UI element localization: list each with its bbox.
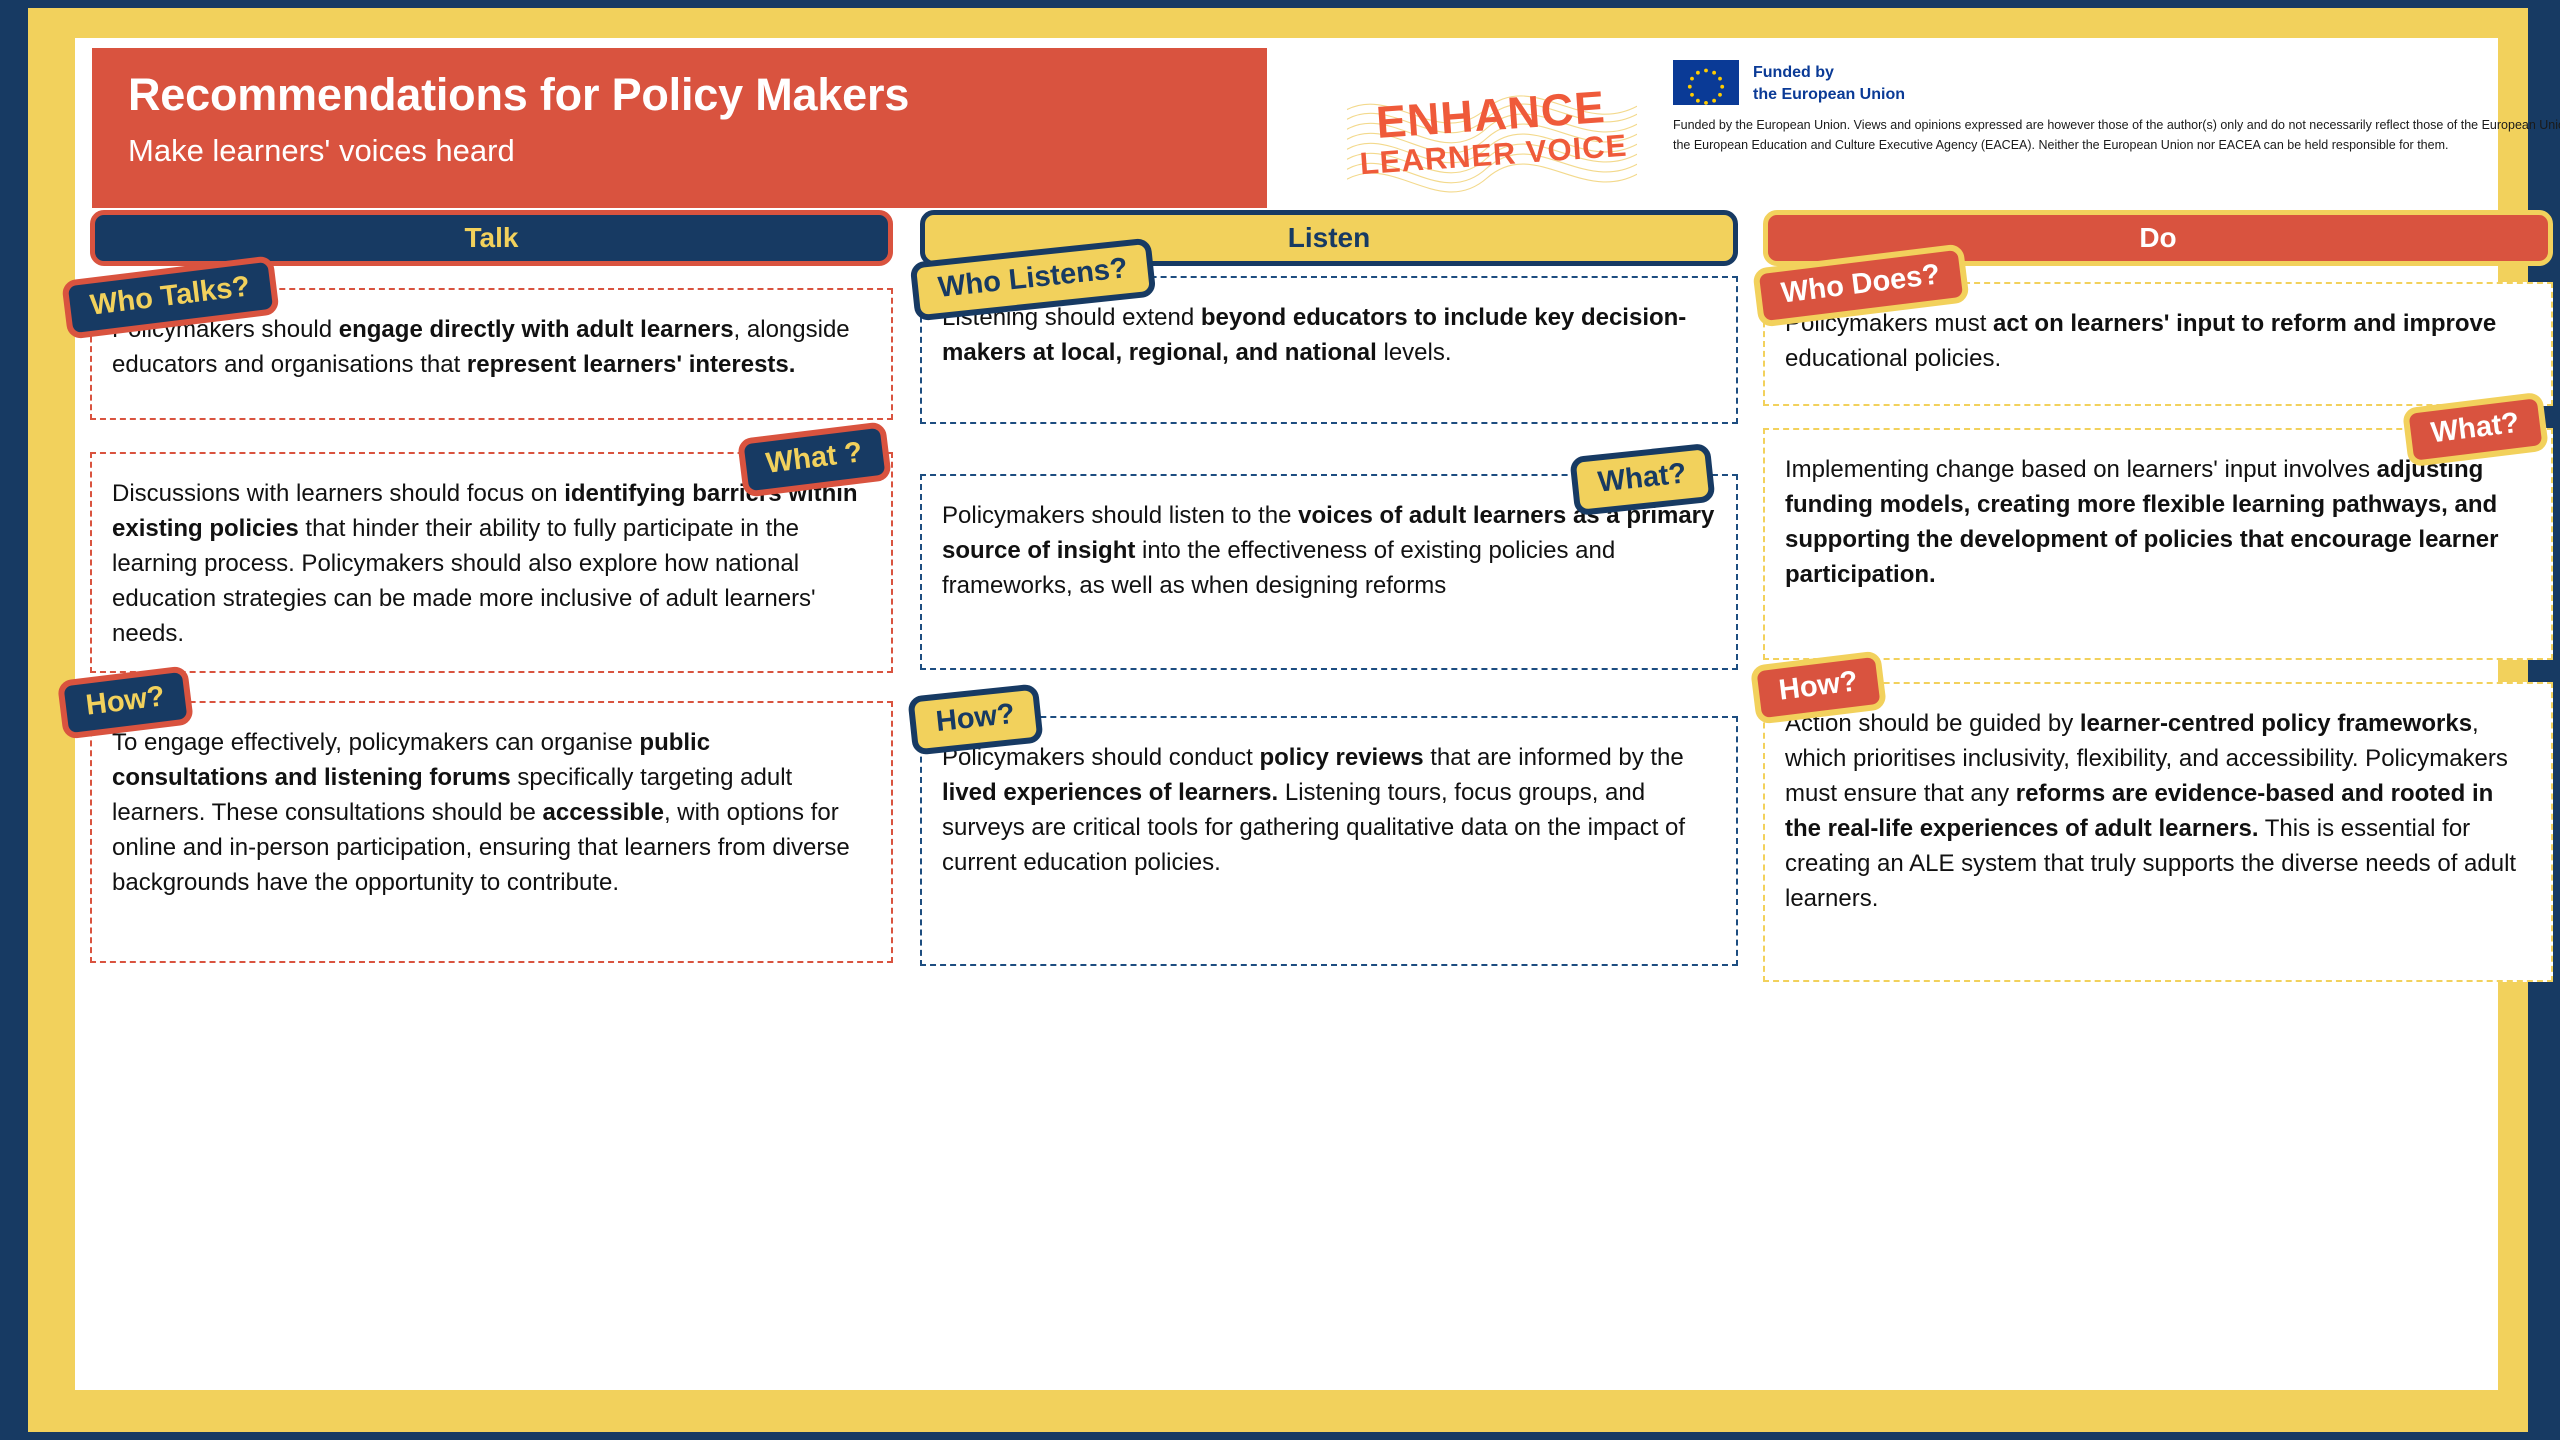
eu-funding-block: Funded by the European Union Funded by t… — [1673, 60, 2493, 156]
poster-sheet: Recommendations for Policy Makers Make l… — [75, 38, 2498, 1390]
column-headers: Talk Listen Do — [75, 210, 2498, 270]
column-listen: Who Listens? Listening should extend bey… — [920, 270, 1738, 966]
card-text-listen-how: Policymakers should conduct policy revie… — [922, 718, 1736, 900]
eu-funded-line1: Funded by — [1753, 62, 1905, 84]
title-block: Recommendations for Policy Makers Make l… — [92, 48, 1267, 208]
card-do-what: What? Implementing change based on learn… — [1763, 428, 2553, 660]
page-title: Recommendations for Policy Makers — [128, 70, 1267, 120]
eu-disclaimer-text: Funded by the European Union. Views and … — [1673, 115, 2560, 156]
card-listen-how: How? Policymakers should conduct policy … — [920, 716, 1738, 966]
card-talk-who: Who Talks? Policymakers should engage di… — [90, 288, 893, 420]
column-header-talk[interactable]: Talk — [90, 210, 893, 266]
eu-funded-line2: the European Union — [1753, 84, 1905, 106]
card-text-talk-how: To engage effectively, policymakers can … — [92, 703, 891, 920]
poster-header: Recommendations for Policy Makers Make l… — [75, 38, 2498, 210]
card-listen-what: What? Policymakers should listen to the … — [920, 474, 1738, 670]
card-do-who: Who Does? Policymakers must act on learn… — [1763, 282, 2553, 406]
enhance-learner-voice-logo: ENHANCE LEARNER VOICE — [1347, 66, 1637, 206]
card-text-do-how: Action should be guided by learner-centr… — [1765, 684, 2551, 936]
card-talk-what: What ? Discussions with learners should … — [90, 452, 893, 673]
page-subtitle: Make learners' voices heard — [128, 134, 1267, 168]
eu-flag-icon — [1673, 60, 1739, 105]
card-talk-how: How? To engage effectively, policymakers… — [90, 701, 893, 963]
card-do-how: How? Action should be guided by learner-… — [1763, 682, 2553, 982]
column-do: Who Does? Policymakers must act on learn… — [1763, 270, 2553, 982]
poster-frame: Recommendations for Policy Makers Make l… — [28, 8, 2528, 1432]
column-talk: Who Talks? Policymakers should engage di… — [90, 270, 893, 963]
eu-funded-by-label: Funded by the European Union — [1753, 60, 1905, 105]
eu-funding-emblem-row: Funded by the European Union — [1673, 60, 2493, 105]
card-listen-who: Who Listens? Listening should extend bey… — [920, 276, 1738, 424]
